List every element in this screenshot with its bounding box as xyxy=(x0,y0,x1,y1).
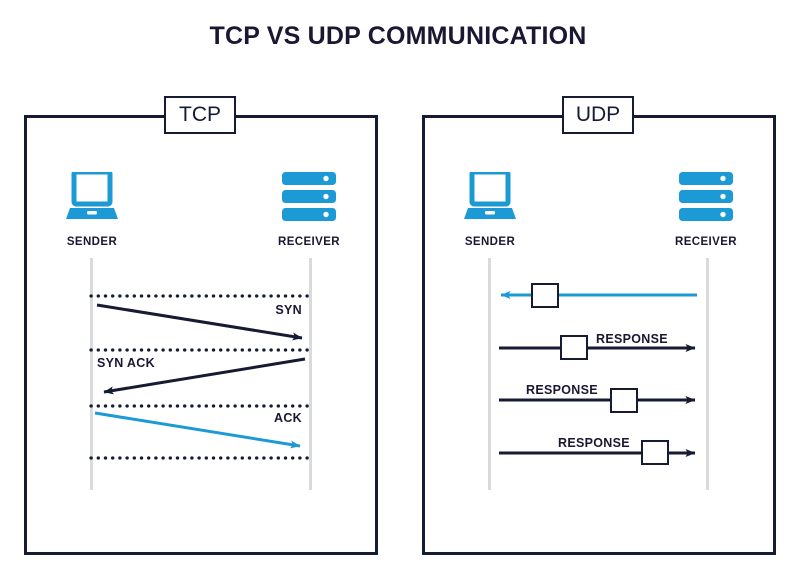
tcp-message-label-syn: SYN xyxy=(200,303,302,317)
udp-message-label-3: RESPONSE xyxy=(526,383,636,397)
panel-udp-label-text: UDP xyxy=(576,103,620,127)
diagram-canvas: TCP VS UDP COMMUNICATION TCP SENDER RECE… xyxy=(0,0,796,576)
tcp-message-label-ack: ACK xyxy=(200,411,302,425)
laptop-icon xyxy=(66,172,118,220)
tcp-message-label-syn-ack: SYN ACK xyxy=(97,356,217,370)
laptop-icon xyxy=(464,172,516,220)
udp-message-label-4: RESPONSE xyxy=(558,436,668,450)
udp-receiver-lifeline xyxy=(706,258,709,490)
server-icon xyxy=(282,172,336,222)
server-icon xyxy=(679,172,733,222)
udp-receiver-label: RECEIVER xyxy=(656,236,756,248)
page-title: TCP VS UDP COMMUNICATION xyxy=(0,22,796,51)
tcp-receiver-label: RECEIVER xyxy=(259,236,359,248)
tcp-sender-label: SENDER xyxy=(42,236,142,248)
panel-udp-label: UDP xyxy=(562,96,634,134)
udp-packet-box-1 xyxy=(531,283,559,308)
udp-sender-label: SENDER xyxy=(440,236,540,248)
udp-message-label-2: RESPONSE xyxy=(596,332,706,346)
udp-sender-lifeline xyxy=(488,258,491,490)
tcp-receiver-lifeline xyxy=(309,258,312,490)
panel-tcp-label: TCP xyxy=(164,96,236,134)
udp-packet-box-2 xyxy=(560,335,588,360)
panel-tcp-label-text: TCP xyxy=(179,103,221,127)
tcp-sender-lifeline xyxy=(90,258,93,490)
